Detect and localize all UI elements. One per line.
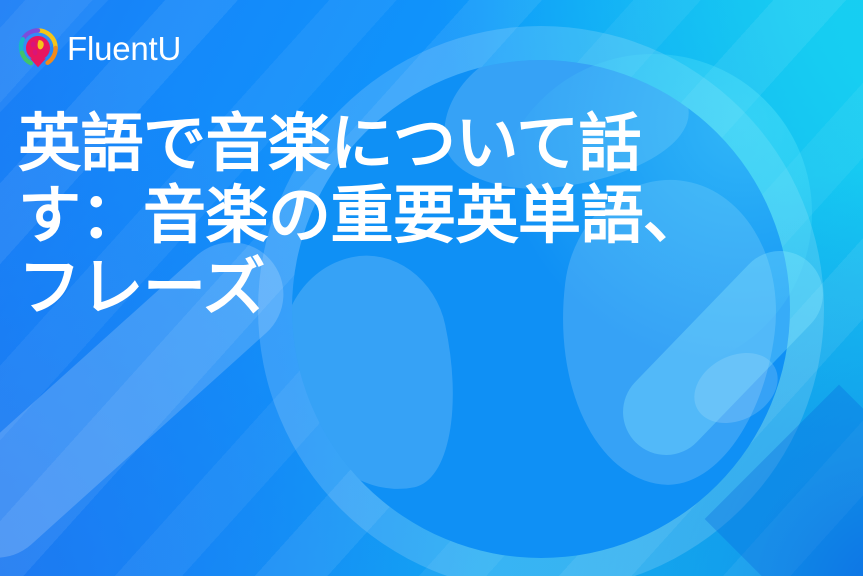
globe-icon xyxy=(18,28,58,68)
brand-wordmark: FluentU xyxy=(67,32,181,65)
headline-line-1: 英語で音楽について話 xyxy=(18,108,818,180)
headline-line-3: フレーズ xyxy=(18,252,818,324)
headline: 英語で音楽について話 す：音楽の重要英単語、 フレーズ xyxy=(18,108,818,324)
headline-line-2: す：音楽の重要英単語、 xyxy=(18,180,818,252)
hero-banner: FluentU 英語で音楽について話 す：音楽の重要英単語、 フレーズ xyxy=(0,0,863,576)
brand-logo[interactable]: FluentU xyxy=(18,28,181,68)
